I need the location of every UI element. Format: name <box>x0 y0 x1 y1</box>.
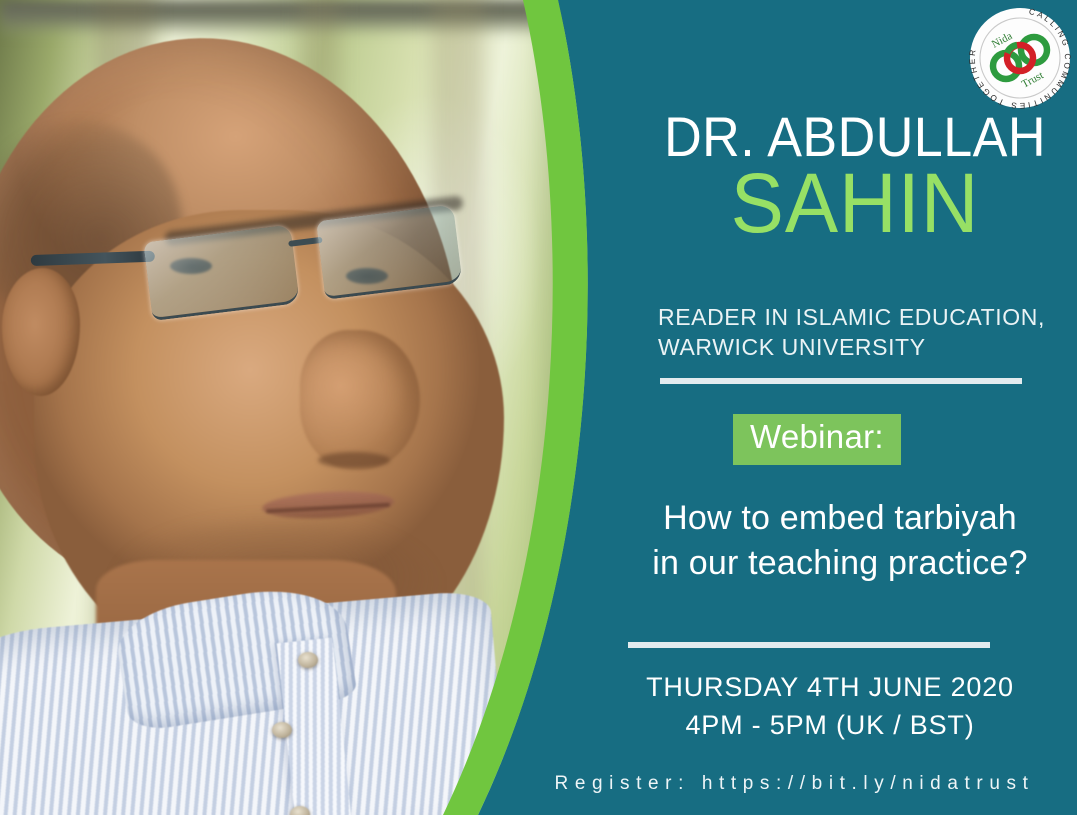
speaker-role: READER IN ISLAMIC EDUCATION, WARWICK UNI… <box>658 302 1068 363</box>
eyeglasses-temple-arm <box>31 251 155 266</box>
eyeglasses-lens <box>143 225 300 321</box>
portrait-nose <box>300 330 420 470</box>
content-panel: CALLING COMMUNITIES TOGETHER Nida Trust … <box>600 0 1077 815</box>
shirt-button <box>272 722 292 738</box>
register-link[interactable]: Register: https://bit.ly/nidatrust <box>512 773 1077 795</box>
event-date: THURSDAY 4TH JUNE 2020 <box>610 668 1050 706</box>
event-time: 4PM - 5PM (UK / BST) <box>610 706 1050 744</box>
background-mullion <box>540 0 576 815</box>
event-datetime: THURSDAY 4TH JUNE 2020 4PM - 5PM (UK / B… <box>610 668 1050 745</box>
webinar-topic-line-2: in our teaching practice? <box>610 541 1070 586</box>
webinar-topic: How to embed tarbiyah in our teaching pr… <box>610 496 1070 586</box>
shirt-button <box>290 806 310 815</box>
speaker-photo <box>0 0 610 815</box>
speaker-surname: SAHIN <box>651 161 1060 245</box>
webinar-topic-line-1: How to embed tarbiyah <box>610 496 1070 541</box>
eyeglasses-lens <box>316 205 463 300</box>
nida-trust-logo: CALLING COMMUNITIES TOGETHER Nida Trust <box>968 6 1072 110</box>
divider-rule-top <box>660 378 1022 384</box>
webinar-badge: Webinar: <box>733 414 901 465</box>
divider-rule-bottom <box>628 642 990 648</box>
webinar-poster: CALLING COMMUNITIES TOGETHER Nida Trust … <box>0 0 1077 815</box>
shirt-button <box>298 652 318 668</box>
portrait-nostril <box>318 452 390 468</box>
speaker-name-block: DR. ABDULLAH SAHIN <box>640 110 1070 245</box>
